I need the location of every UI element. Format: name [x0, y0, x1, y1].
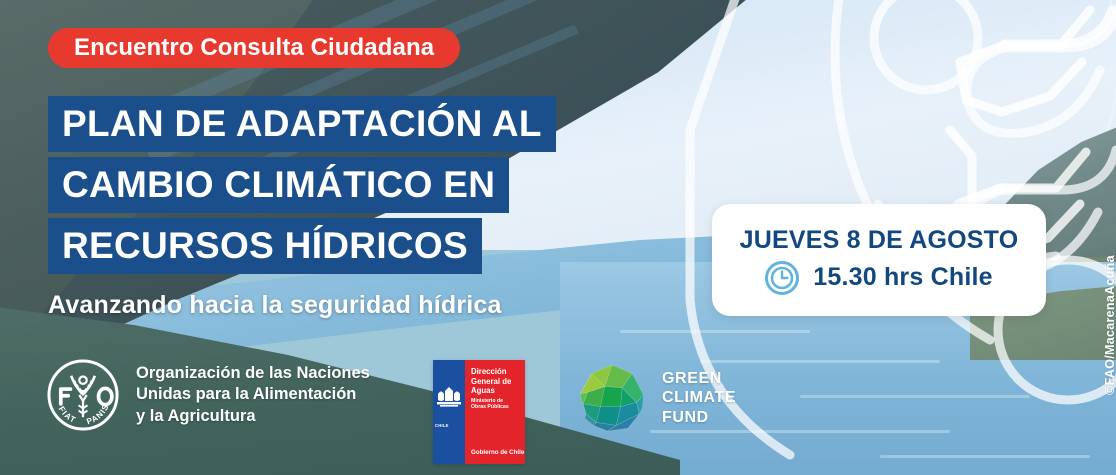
gcf-logo-text: GREEN CLIMATE FUND	[662, 369, 736, 428]
fao-logo: FIAT PANIS Organización de las Naciones …	[46, 358, 370, 432]
event-time-row: 15.30 hrs Chile	[765, 261, 992, 295]
dga-subheading: Ministerio de Obras Públicas	[471, 398, 509, 410]
fao-text-line-3: y la Agricultura	[136, 406, 370, 427]
dga-heading-line-3: Aguas	[471, 386, 511, 396]
event-banner: Encuentro Consulta Ciudadana PLAN DE ADA…	[0, 0, 1116, 475]
event-type-badge: Encuentro Consulta Ciudadana	[48, 28, 460, 68]
dga-chile-logo: CHILE Dirección General de Aguas Ministe…	[433, 360, 525, 464]
dga-heading-line-2: General de	[471, 377, 511, 387]
page-subtitle: Avanzando hacia la seguridad hídrica	[48, 291, 502, 320]
green-climate-fund-logo: GREEN CLIMATE FUND	[576, 362, 736, 434]
chile-coat-of-arms-icon	[436, 386, 462, 408]
photo-credit: ©FAO/MacarenaAcuña	[1103, 255, 1116, 395]
gcf-text-line-2: CLIMATE	[662, 388, 736, 408]
dga-heading-line-1: Dirección	[471, 367, 511, 377]
event-type-label: Encuentro Consulta Ciudadana	[74, 34, 434, 62]
fao-text-line-2: Unidas para la Alimentación	[136, 384, 370, 405]
event-date: JUEVES 8 DE AGOSTO	[740, 226, 1019, 255]
fao-logo-text: Organización de las Naciones Unidas para…	[136, 363, 370, 426]
banner-content: Encuentro Consulta Ciudadana PLAN DE ADA…	[0, 0, 1116, 475]
organization-logos: FIAT PANIS Organización de las Naciones …	[46, 358, 370, 432]
fao-text-line-1: Organización de las Naciones	[136, 363, 370, 384]
dga-blue-caption: CHILE	[435, 423, 449, 428]
green-climate-fund-sphere-icon	[576, 362, 648, 434]
svg-text:PANIS: PANIS	[86, 402, 111, 426]
dga-red-panel: Dirección General de Aguas Ministerio de…	[465, 360, 525, 464]
title-line-3: RECURSOS HÍDRICOS	[48, 218, 482, 274]
clock-icon	[765, 261, 799, 295]
title-row: RECURSOS HÍDRICOS	[48, 218, 556, 274]
dga-subheading-line-2: Obras Públicas	[471, 404, 509, 410]
title-line-2: CAMBIO CLIMÁTICO EN	[48, 157, 509, 213]
dga-heading: Dirección General de Aguas	[471, 367, 511, 396]
svg-text:FIAT: FIAT	[57, 405, 78, 425]
page-title: PLAN DE ADAPTACIÓN AL CAMBIO CLIMÁTICO E…	[48, 96, 556, 279]
gcf-text-line-3: FUND	[662, 408, 736, 428]
title-row: CAMBIO CLIMÁTICO EN	[48, 157, 556, 213]
event-time: 15.30 hrs Chile	[813, 263, 992, 292]
gcf-text-line-1: GREEN	[662, 369, 736, 389]
dga-footer: Gobierno de Chile	[471, 449, 524, 456]
fao-logo-icon: FIAT PANIS	[46, 358, 120, 432]
title-row: PLAN DE ADAPTACIÓN AL	[48, 96, 556, 152]
title-line-1: PLAN DE ADAPTACIÓN AL	[48, 96, 556, 152]
event-datetime-card: JUEVES 8 DE AGOSTO 15.30 hrs Chile	[712, 204, 1046, 316]
dga-blue-panel: CHILE	[433, 360, 465, 464]
